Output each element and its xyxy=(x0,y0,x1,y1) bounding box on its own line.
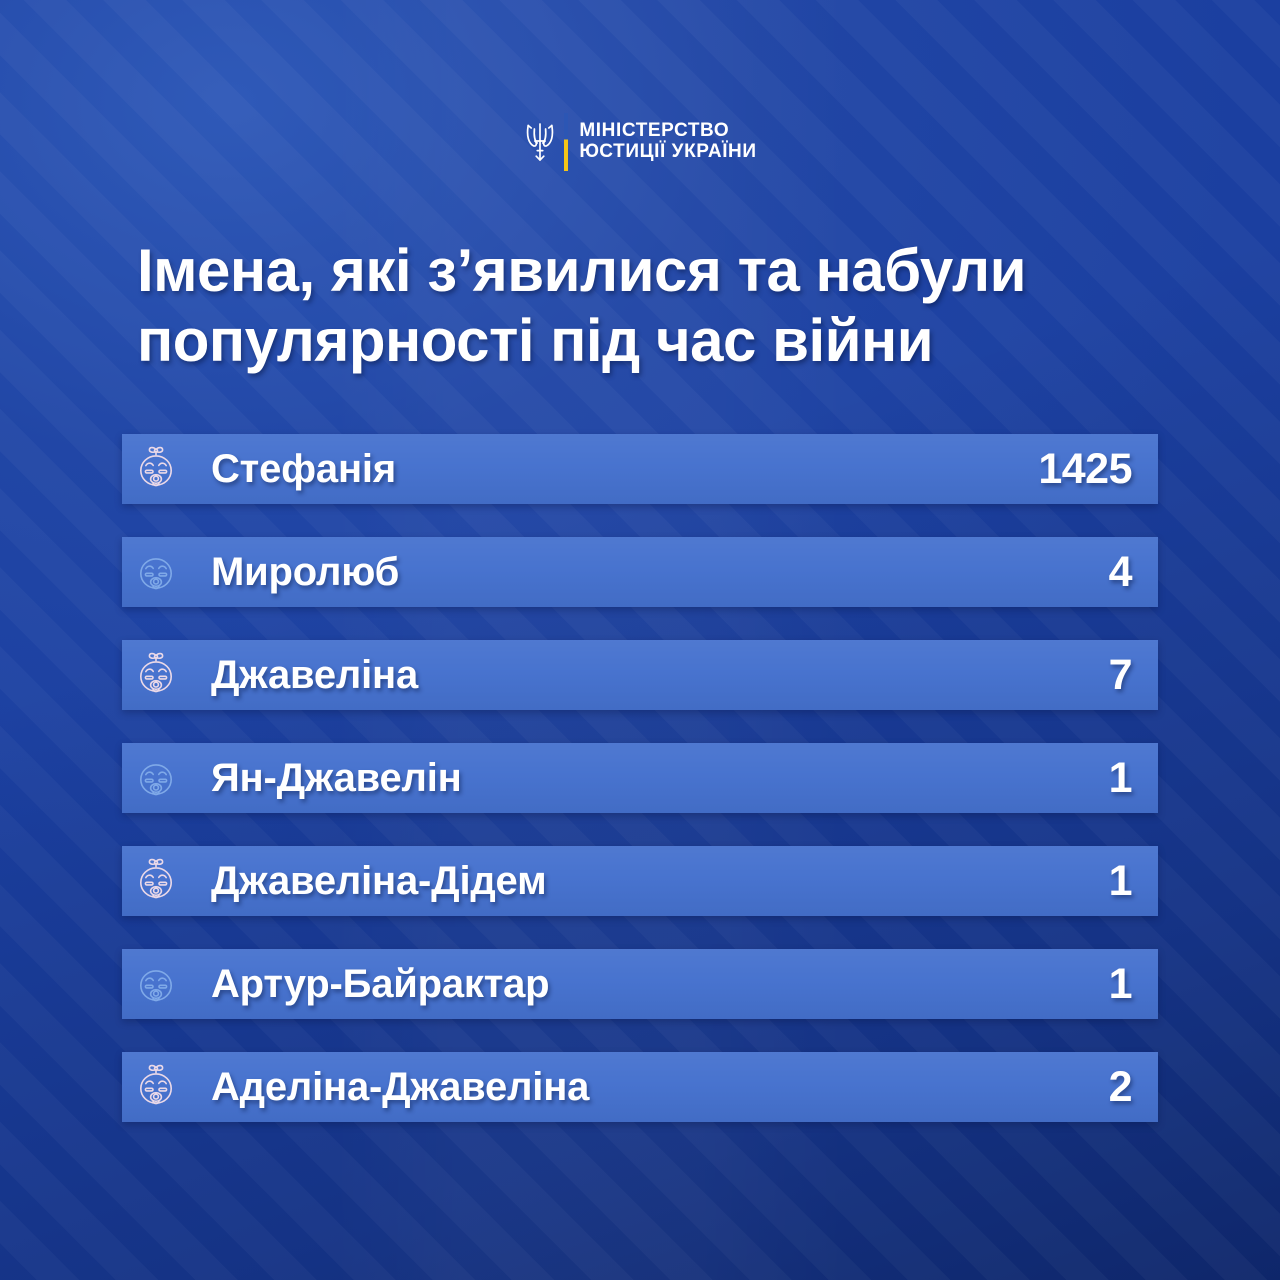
table-row: Миролюб 4 xyxy=(122,537,1158,607)
row-name-label: Джавеліна xyxy=(211,653,418,698)
table-row: Аделіна-Джавеліна 2 xyxy=(122,1052,1158,1122)
row-name-label: Стефанія xyxy=(211,447,396,492)
baby-girl-icon xyxy=(134,855,178,907)
row-name-label: Миролюб xyxy=(211,550,399,595)
names-bar-chart: Стефанія 1425 Миролюб 4 xyxy=(122,434,1158,1122)
table-row: Джавеліна 7 xyxy=(122,640,1158,710)
row-value-label: 2 xyxy=(1109,1063,1132,1112)
baby-boy-icon xyxy=(134,546,178,598)
row-name-label: Джавеліна-Дідем xyxy=(211,859,546,904)
table-row: Стефанія 1425 xyxy=(122,434,1158,504)
row-value-label: 4 xyxy=(1109,548,1132,597)
row-name-label: Артур-Байрактар xyxy=(211,962,549,1007)
row-name-label: Ян-Джавелін xyxy=(211,756,462,801)
baby-girl-icon xyxy=(134,443,178,495)
row-value-label: 7 xyxy=(1109,651,1132,700)
table-row: Артур-Байрактар 1 xyxy=(122,949,1158,1019)
row-value-label: 1 xyxy=(1109,857,1132,906)
row-value-label: 1425 xyxy=(1038,445,1132,494)
table-row: Джавеліна-Дідем 1 xyxy=(122,846,1158,916)
baby-girl-icon xyxy=(134,1061,178,1113)
baby-boy-icon xyxy=(134,958,178,1010)
row-value-label: 1 xyxy=(1109,960,1132,1009)
baby-girl-icon xyxy=(134,649,178,701)
table-row: Ян-Джавелін 1 xyxy=(122,743,1158,813)
page-title: Імена, які з’явилися та набули популярно… xyxy=(137,236,1147,375)
row-value-label: 1 xyxy=(1109,754,1132,803)
baby-boy-icon xyxy=(134,752,178,804)
row-name-label: Аделіна-Джавеліна xyxy=(211,1065,589,1110)
